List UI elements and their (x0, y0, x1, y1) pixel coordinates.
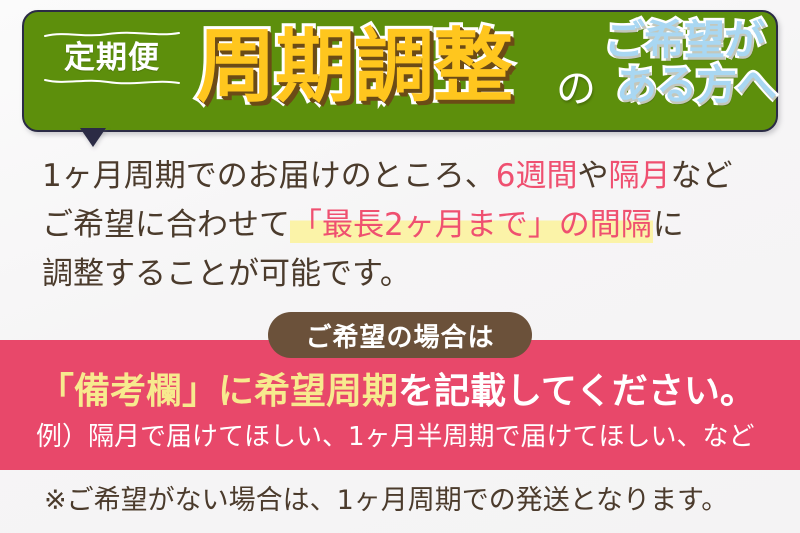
body-line-2: ご希望に合わせて「最長2ヶ月まで」の間隔に (42, 201, 772, 250)
body-line-3: 調整することが可能です。 (42, 250, 772, 299)
wavy-rule-bottom-icon (44, 77, 180, 86)
body-line-1-text-c: など (670, 158, 732, 194)
body-line-1: 1ヶ月周期でのお届けのところ、6週間や隔月など (42, 152, 772, 201)
wish-callout-line-2: ある方へ (616, 65, 784, 106)
wish-callout: ご希望が ある方へ (604, 20, 784, 106)
body-line-1-text-a: 1ヶ月周期でのお届けのところ、 (42, 158, 496, 194)
instruction-band: 「備考欄」に希望周期を記載してください。 例）隔月で届けてほしい、1ヶ月半周期で… (0, 340, 800, 470)
subscription-label: 定期便 (44, 39, 180, 77)
body-line-2-highlight: 「最長2ヶ月まで」の間隔 (290, 207, 653, 243)
instruction-headline-emphasis: 「備考欄」に希望周期 (38, 371, 398, 412)
promo-banner: 定期便 周期調整 の ご希望が ある方へ 1ヶ月周期でのお届けのところ、6週間や… (0, 0, 800, 533)
wish-callout-line-1: ご希望が (604, 20, 784, 61)
body-line-2-text-a: ご希望に合わせて (42, 207, 290, 243)
body-line-2-text-b: に (653, 207, 684, 243)
headline-title: 周期調整 (196, 16, 512, 118)
body-paragraph: 1ヶ月周期でのお届けのところ、6週間や隔月など ご希望に合わせて「最長2ヶ月まで… (42, 152, 772, 299)
headline-particle: の (556, 56, 596, 114)
wish-case-badge-label: ご希望の場合は (305, 317, 494, 354)
body-line-1-accent-1: 6週間 (496, 158, 578, 194)
wavy-rule-top-icon (44, 30, 180, 39)
subscription-label-block: 定期便 (44, 30, 180, 86)
footer-note: ※ご希望がない場合は、1ヶ月周期での発送となります。 (44, 478, 728, 517)
instruction-headline: 「備考欄」に希望周期を記載してください。 (38, 362, 756, 414)
wish-case-badge: ご希望の場合は (268, 312, 532, 358)
instruction-headline-rest: を記載してください。 (398, 371, 756, 412)
instruction-example: 例）隔月で届けてほしい、1ヶ月半周期で届けてほしい、など (36, 416, 755, 453)
body-line-1-text-b: や (577, 158, 608, 194)
body-line-1-accent-2: 隔月 (608, 158, 670, 194)
